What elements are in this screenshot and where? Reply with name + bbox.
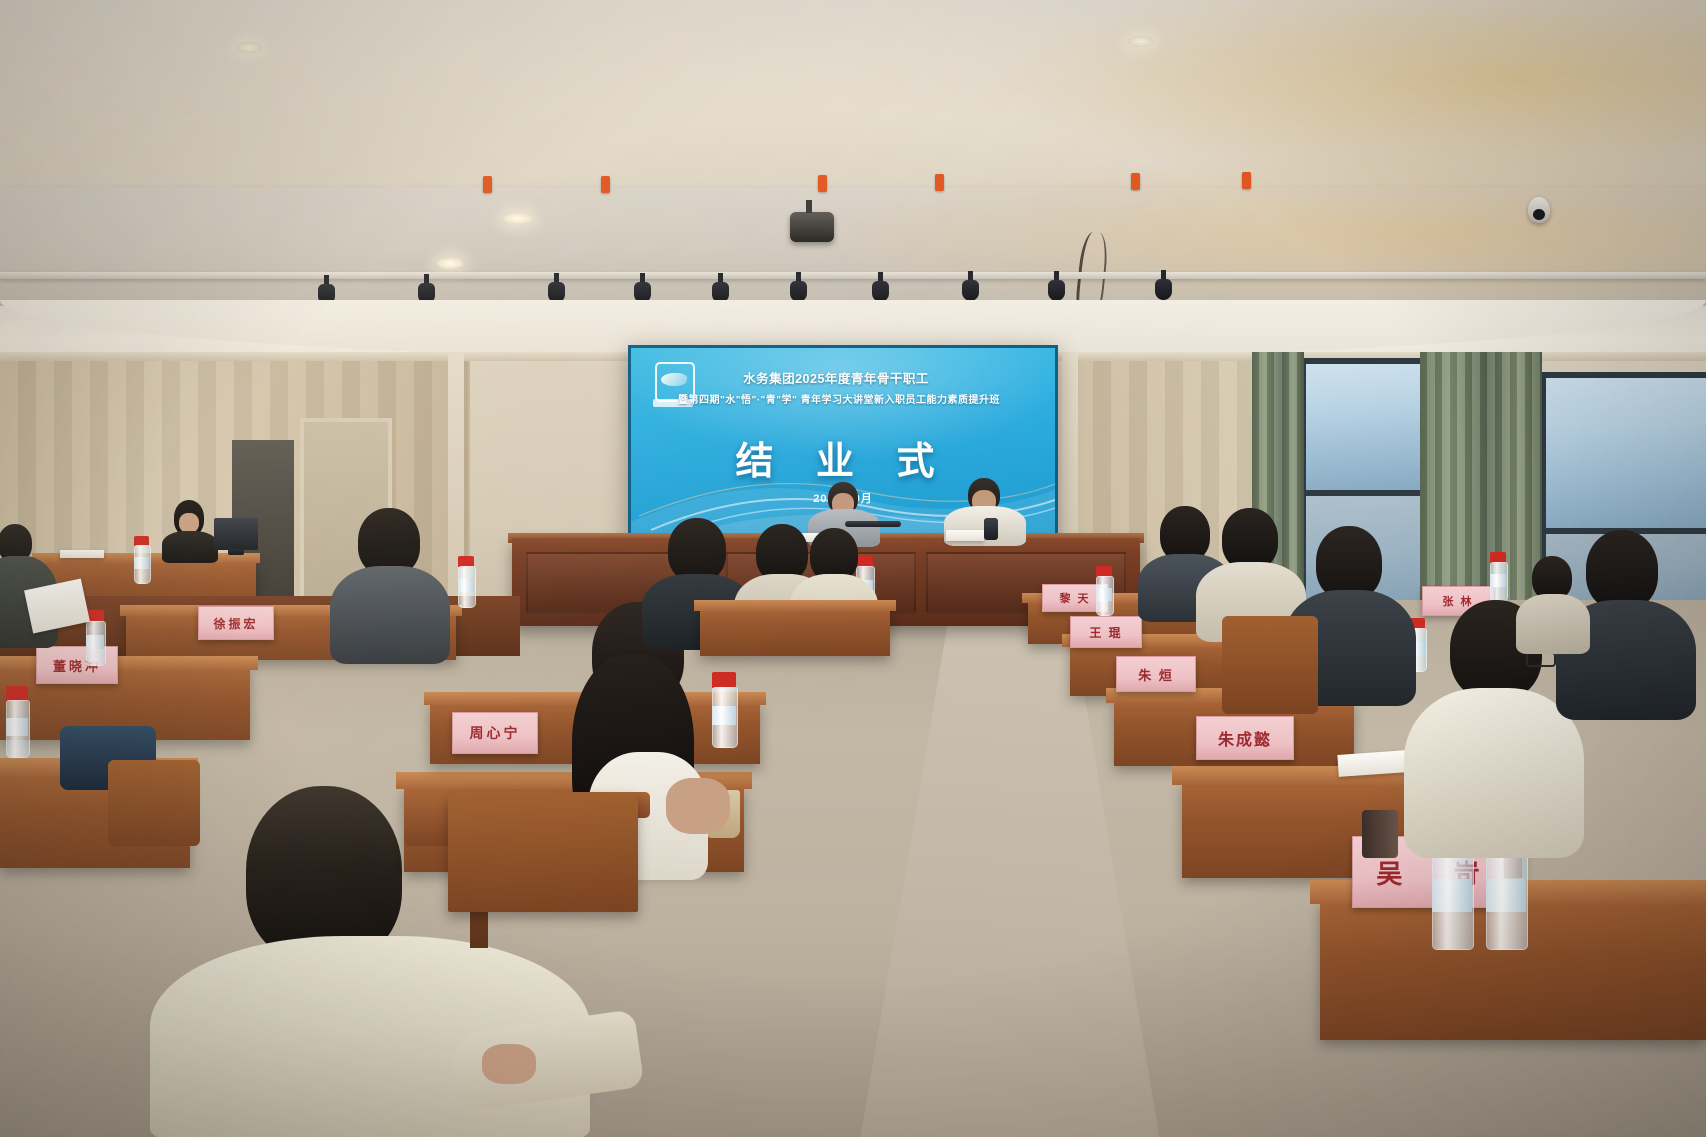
sprinkler-head (935, 174, 944, 191)
person-torso (1404, 688, 1584, 858)
audience-person-left-back (330, 508, 450, 658)
bottle-label (6, 718, 28, 736)
name-placard: 朱 烜 (1116, 656, 1196, 692)
person-face (179, 513, 199, 533)
bottle-label (86, 635, 104, 649)
ceiling-downlight (1128, 36, 1154, 47)
ceiling-downlight (236, 42, 262, 53)
person-hand (482, 1044, 536, 1084)
track-spotlight (962, 271, 979, 301)
ceiling-downlight (503, 213, 533, 224)
person-torso (1516, 594, 1590, 654)
person-head (668, 518, 726, 582)
bottle-label (1096, 588, 1112, 600)
chair-back (448, 792, 638, 912)
operator-monitor (214, 518, 258, 550)
person-head (1316, 526, 1382, 600)
bottle-label (1490, 574, 1506, 586)
placard-name: 黎 天 (1059, 590, 1090, 606)
thermos-cup (1362, 810, 1398, 858)
track-spotlight (634, 273, 651, 303)
lighting-track (0, 272, 1706, 279)
screen-main-title: 结 业 式 (631, 430, 1055, 485)
water-bottle (1096, 566, 1112, 614)
glasses-icon (1526, 652, 1556, 667)
window-glass (1546, 378, 1706, 528)
placard-name: 王 琨 (1089, 624, 1122, 641)
placard-name: 朱成懿 (1218, 726, 1272, 750)
sprinkler-head (601, 176, 610, 193)
track-spotlight (1155, 270, 1172, 300)
sprinkler-head (818, 175, 827, 192)
person-torso (162, 531, 218, 563)
water-bottle (458, 556, 474, 606)
track-spotlight (1048, 271, 1065, 301)
water-bottle (1490, 552, 1506, 600)
head-table-document (946, 530, 984, 541)
bottle-label (134, 557, 149, 569)
name-placard: 周心宁 (452, 712, 538, 754)
audience-person-right-f (1516, 556, 1590, 650)
placard-name: 吴 岢 (1354, 854, 1501, 891)
security-camera (1528, 197, 1550, 223)
operator-person (158, 500, 220, 562)
ceiling-downlight (437, 258, 463, 269)
person-torso (330, 566, 450, 664)
track-spotlight (790, 272, 807, 302)
chair-back (1222, 616, 1318, 714)
desk-top (694, 600, 896, 611)
bottle-label (1432, 879, 1472, 912)
bottle-label (458, 579, 474, 592)
head-table-microphone (845, 521, 901, 527)
track-spotlight (712, 273, 729, 303)
person-head (1222, 508, 1278, 570)
bottle-cap (1490, 552, 1506, 563)
water-bottle (6, 686, 28, 756)
screen-title-line1: 水务集团2025年度青年骨干职工 (631, 368, 1041, 387)
water-bottle (134, 536, 149, 582)
operator-monitor-stand (228, 549, 244, 555)
placard-name: 朱 烜 (1138, 665, 1174, 684)
placard-name: 周心宁 (470, 723, 521, 743)
screen-title-line2: 暨第四期"水"悟"·"青"学" 青年学习大讲堂新入职员工能力素质提升班 (631, 391, 1047, 406)
name-placard: 朱成懿 (1196, 716, 1294, 760)
ceiling-projector (790, 212, 834, 242)
placard-name: 徐振宏 (213, 615, 258, 632)
chair-back (108, 760, 200, 846)
sprinkler-head (483, 176, 492, 193)
sprinkler-head (1131, 173, 1140, 190)
name-placard: 徐振宏 (198, 606, 274, 640)
person-arm (666, 778, 730, 834)
conference-room-photo: 水务集团2025年度青年骨干职工 暨第四期"水"悟"·"青"学" 青年学习大讲堂… (0, 0, 1706, 1137)
sprinkler-head (1242, 172, 1251, 189)
head-table-microphone (984, 518, 998, 540)
desk-center (700, 608, 890, 656)
track-spotlight (872, 272, 889, 302)
bottle-cap (1096, 566, 1112, 577)
person-head (1586, 530, 1658, 610)
window-glass (1306, 364, 1420, 490)
name-placard: 王 琨 (1070, 616, 1142, 648)
track-spotlight (548, 273, 565, 303)
bottle-label (1486, 879, 1526, 912)
operator-papers (60, 550, 104, 558)
